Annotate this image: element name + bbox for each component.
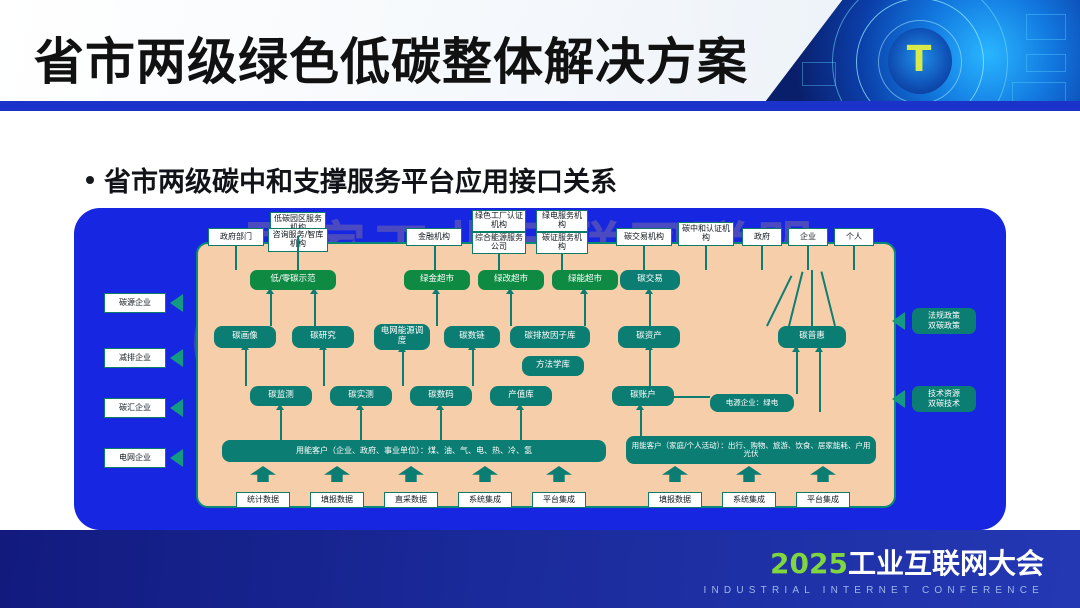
connector-actor-3 bbox=[434, 246, 436, 270]
circuit-block-icon-1 bbox=[1026, 14, 1066, 40]
connector-inclusion-1 bbox=[811, 270, 813, 326]
data-output-value-db[interactable]: 产值库 bbox=[490, 386, 552, 406]
connector-data-3 bbox=[440, 408, 442, 440]
connector-actor-2 bbox=[297, 236, 299, 270]
conference-t-logo-icon: T bbox=[906, 38, 932, 82]
connector-market-3 bbox=[436, 292, 438, 326]
arrow-up-icon-10 bbox=[645, 344, 653, 350]
actor-enterprise[interactable]: 企业 bbox=[788, 228, 828, 246]
arrow-up-icon-15 bbox=[580, 288, 588, 294]
actor-government-dept[interactable]: 政府部门 bbox=[208, 228, 264, 246]
connector-market-2 bbox=[314, 292, 316, 326]
left-arrow-icon-1 bbox=[170, 294, 183, 312]
conference-title-cn: 工业互联网大会 bbox=[848, 547, 1044, 580]
customer-bar-enterprise[interactable]: 用能客户（企业、政府、事业单位）：煤、油、气、电、热、冷、氢 bbox=[222, 440, 606, 462]
slide-header: 省市两级绿色低碳整体解决方案 T bbox=[0, 0, 1080, 122]
connector-market-4 bbox=[510, 292, 512, 326]
arrow-up-icon-9 bbox=[468, 344, 476, 350]
arrow-up-icon-7 bbox=[319, 344, 327, 350]
section-heading-label: 省市两级碳中和支撑服务平台应用接口关系 bbox=[104, 160, 617, 199]
right-arrow-icon-1 bbox=[892, 312, 905, 330]
circuit-block-icon-2 bbox=[1026, 54, 1066, 72]
conference-year: 2025 bbox=[770, 547, 848, 580]
arrow-up-icon-6 bbox=[241, 344, 249, 350]
arrow-up-icon-2 bbox=[356, 404, 364, 410]
source-left-platform-integration[interactable]: 平台集成 bbox=[532, 492, 586, 508]
left-arrow-icon-3 bbox=[170, 399, 183, 417]
service-methodology-db[interactable]: 方法学库 bbox=[522, 356, 584, 376]
page-title: 省市两级绿色低碳整体解决方案 bbox=[34, 22, 748, 94]
actor-integrated-energy-service[interactable]: 综合能源服务公司 bbox=[472, 232, 526, 254]
service-emission-factor-db[interactable]: 碳排放因子库 bbox=[510, 326, 590, 348]
connector-data-1 bbox=[280, 408, 282, 440]
actor-green-power-service[interactable]: 绿电服务机构 bbox=[536, 210, 588, 232]
data-carbon-monitoring[interactable]: 碳监测 bbox=[250, 386, 312, 406]
arrow-up-icon-14 bbox=[506, 288, 514, 294]
arrow-up-icon-17 bbox=[792, 346, 800, 352]
arrow-up-icon-11 bbox=[266, 288, 274, 294]
left-output-emission-reduction[interactable]: 减排企业 bbox=[104, 348, 166, 368]
arrow-up-icon-18 bbox=[815, 346, 823, 352]
connector-actor-1 bbox=[235, 246, 237, 270]
arrow-up-icon-1 bbox=[276, 404, 284, 410]
actor-carbon-cert-service[interactable]: 碳证服务机构 bbox=[536, 232, 588, 254]
connector-mid-2 bbox=[323, 348, 325, 386]
conference-logo: 2025工业互联网大会 INDUSTRIAL INTERNET CONFEREN… bbox=[704, 542, 1044, 596]
connector-actor-4 bbox=[498, 254, 500, 270]
market-green-energy[interactable]: 绿能超市 bbox=[552, 270, 618, 290]
connector-actor-6 bbox=[643, 246, 645, 270]
connector-market-5 bbox=[584, 292, 586, 326]
source-left-statistics[interactable]: 统计数据 bbox=[236, 492, 290, 508]
left-output-grid-company[interactable]: 电网企业 bbox=[104, 448, 166, 468]
source-right-system-integration[interactable]: 系统集成 bbox=[722, 492, 776, 508]
connector-mid-4 bbox=[472, 348, 474, 386]
source-left-direct[interactable]: 直采数据 bbox=[384, 492, 438, 508]
section-heading: 省市两级碳中和支撑服务平台应用接口关系 bbox=[86, 160, 617, 199]
connector-actor-7 bbox=[705, 246, 707, 270]
actor-individual[interactable]: 个人 bbox=[834, 228, 874, 246]
data-carbon-account[interactable]: 碳账户 bbox=[612, 386, 674, 406]
connector-data-4 bbox=[520, 408, 522, 440]
circuit-block-icon-4 bbox=[802, 62, 836, 86]
arrow-up-icon-4 bbox=[516, 404, 524, 410]
connector-actor-10 bbox=[853, 246, 855, 270]
service-carbon-trading[interactable]: 碳交易 bbox=[620, 270, 680, 290]
service-carbon-inclusion[interactable]: 碳普惠 bbox=[778, 326, 846, 348]
source-right-platform-integration[interactable]: 平台集成 bbox=[796, 492, 850, 508]
market-green-finance[interactable]: 绿金超市 bbox=[404, 270, 470, 290]
conference-name-cn: 2025工业互联网大会 bbox=[704, 542, 1044, 582]
connector-mid-5 bbox=[649, 348, 651, 386]
source-left-system-integration[interactable]: 系统集成 bbox=[458, 492, 512, 508]
connector-inclusion-6 bbox=[819, 348, 821, 412]
source-left-reported[interactable]: 填报数据 bbox=[310, 492, 364, 508]
connector-mid-3 bbox=[402, 350, 404, 386]
connector-account-right bbox=[674, 396, 710, 398]
left-arrow-icon-4 bbox=[170, 449, 183, 467]
data-carbon-code[interactable]: 碳数码 bbox=[410, 386, 472, 406]
bullet-dot-icon bbox=[86, 176, 94, 184]
arrow-up-icon-8 bbox=[398, 346, 406, 352]
actor-carbon-exchange[interactable]: 碳交易机构 bbox=[616, 228, 672, 246]
arrow-up-icon-13 bbox=[432, 288, 440, 294]
left-output-carbon-source[interactable]: 碳源企业 bbox=[104, 293, 166, 313]
connector-actor-9 bbox=[807, 246, 809, 270]
right-input-technology[interactable]: 技术资源 双碳技术 bbox=[912, 386, 976, 412]
market-lowzero-carbon-demo[interactable]: 低/零碳示范 bbox=[250, 270, 336, 290]
connector-data-5 bbox=[640, 408, 642, 440]
right-arrow-icon-2 bbox=[892, 390, 905, 408]
connector-data-2 bbox=[360, 408, 362, 440]
conference-name-en: INDUSTRIAL INTERNET CONFERENCE bbox=[704, 585, 1044, 596]
source-right-reported[interactable]: 填报数据 bbox=[648, 492, 702, 508]
connector-actor-5 bbox=[561, 254, 563, 270]
connector-market-6 bbox=[649, 292, 651, 326]
architecture-diagram: 国家工业互联网联盟 Alliance of Industrial Interne… bbox=[74, 208, 1006, 530]
actor-financial-institution[interactable]: 金融机构 bbox=[406, 228, 462, 246]
connector-actor-8 bbox=[761, 246, 763, 270]
actor-government[interactable]: 政府 bbox=[742, 228, 782, 246]
connector-mid-1 bbox=[245, 348, 247, 386]
slide-footer: 2025工业互联网大会 INDUSTRIAL INTERNET CONFEREN… bbox=[0, 530, 1080, 608]
actor-carbon-neutral-cert[interactable]: 碳中和认证机构 bbox=[678, 222, 734, 246]
arrow-up-icon-16 bbox=[645, 288, 653, 294]
arrow-up-icon-12 bbox=[310, 288, 318, 294]
left-arrow-icon-2 bbox=[170, 349, 183, 367]
connector-inclusion-5 bbox=[796, 348, 798, 394]
header-divider-blue bbox=[0, 101, 1080, 111]
arrow-up-icon-5 bbox=[636, 404, 644, 410]
arrow-up-icon-3 bbox=[436, 404, 444, 410]
data-carbon-measurement[interactable]: 碳实测 bbox=[330, 386, 392, 406]
actor-green-factory-cert[interactable]: 绿色工厂认证机构 bbox=[472, 210, 526, 232]
right-input-policy[interactable]: 法规政策 双碳政策 bbox=[912, 308, 976, 334]
header-divider-white bbox=[0, 111, 1080, 122]
customer-bar-household[interactable]: 用能客户（家庭/个人活动）：出行、购物、旅游、饮食、居家能耗、户用光伏 bbox=[626, 436, 876, 464]
data-power-source-green[interactable]: 电源企业：绿电 bbox=[710, 394, 794, 412]
connector-market-1 bbox=[270, 292, 272, 326]
left-output-carbon-sink[interactable]: 碳汇企业 bbox=[104, 398, 166, 418]
market-green-retrofit[interactable]: 绿改超市 bbox=[478, 270, 544, 290]
